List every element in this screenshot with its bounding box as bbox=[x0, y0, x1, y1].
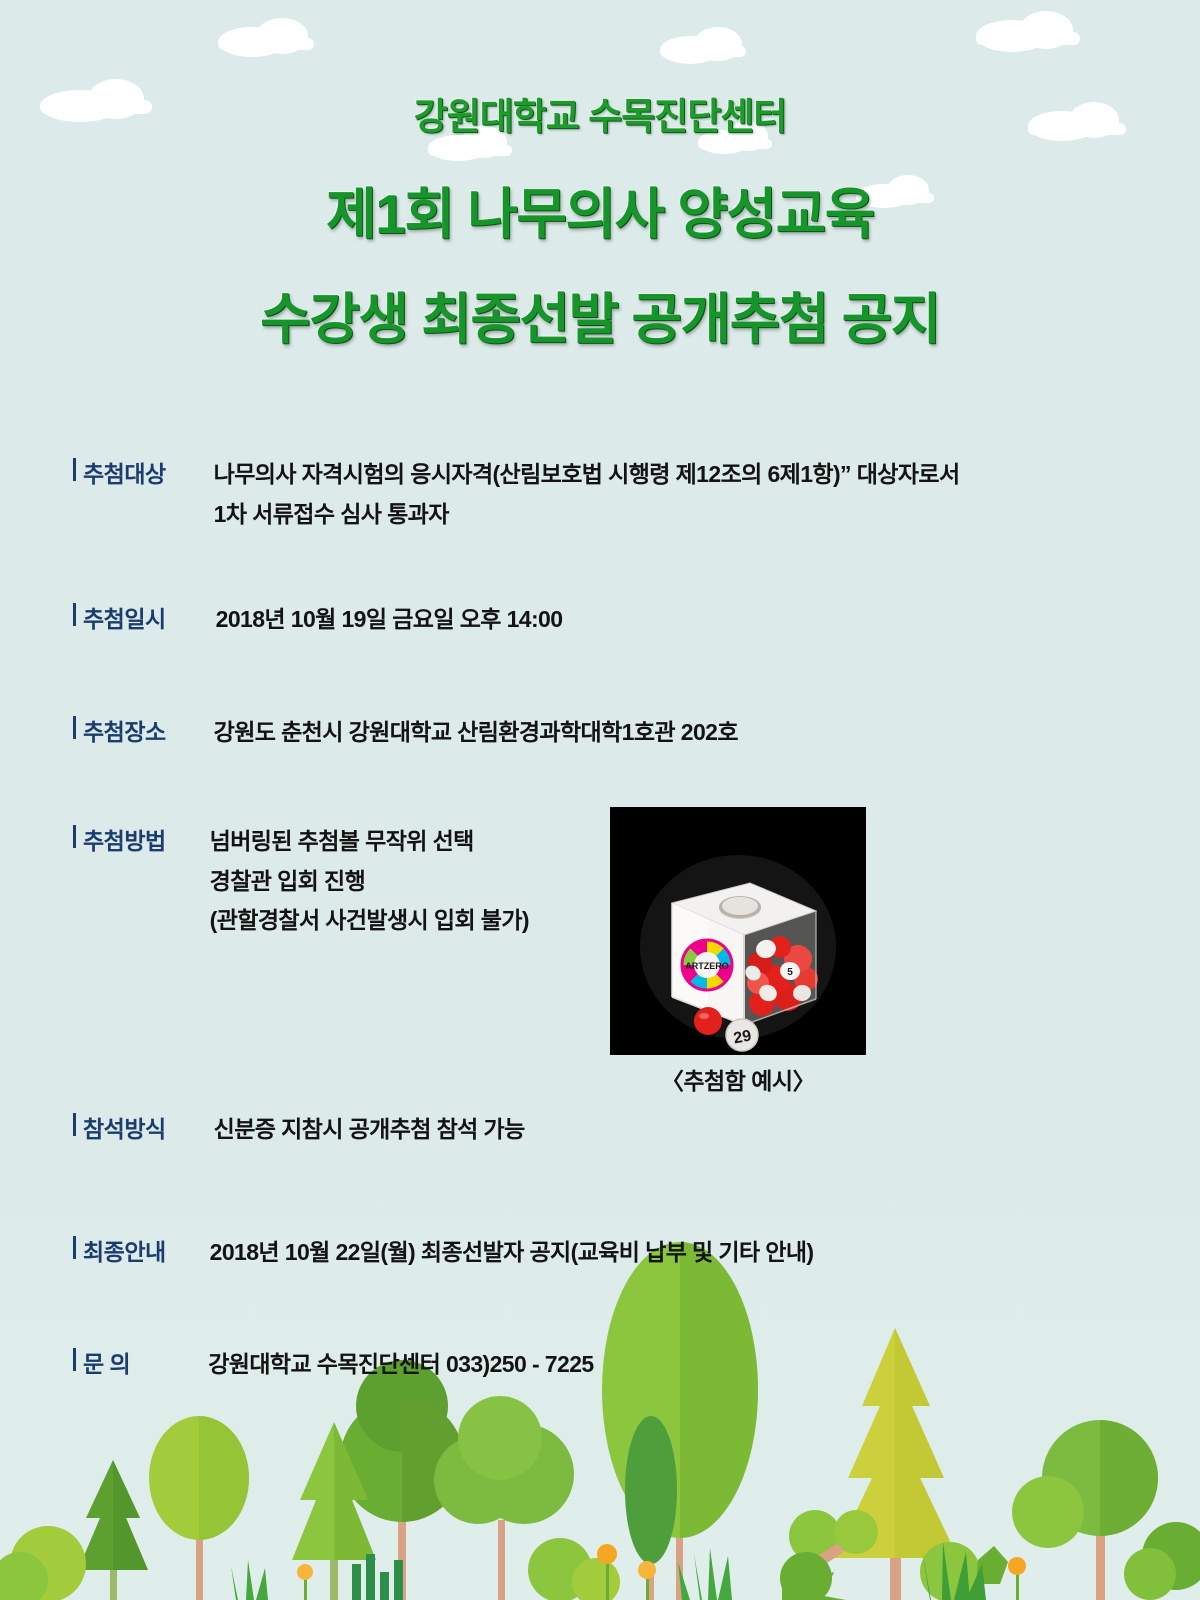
svg-text:29: 29 bbox=[732, 1028, 753, 1048]
bush-starshape bbox=[780, 1552, 846, 1600]
bush-sapling-center bbox=[789, 1510, 878, 1600]
label-bar-icon bbox=[73, 603, 76, 626]
page-title-line1: 제1회 나무의사 양성교육 bbox=[0, 169, 1200, 249]
info-value-attendance: 신분증 지참시 공개추첨 참석 가능 bbox=[214, 1110, 525, 1150]
info-row-target: 추첨대상 나무의사 자격시험의 응시자격(산림보호법 시행령 제12조의 6제1… bbox=[73, 455, 960, 534]
flower-orange bbox=[597, 1544, 617, 1600]
tree-round-medium bbox=[340, 1360, 464, 1600]
info-label-method: 추첨방법 bbox=[73, 822, 166, 856]
label-bar-icon bbox=[73, 716, 76, 739]
info-value-target: 나무의사 자격시험의 응시자격(산림보호법 시행령 제12조의 6제1항)” 대… bbox=[214, 455, 960, 534]
grass-tuft bbox=[231, 1560, 268, 1600]
info-row-contact: 문 의 강원대학교 수목진단센터 033)250 - 7225 bbox=[73, 1345, 594, 1385]
organization-title: 강원대학교 수목진단센터 bbox=[0, 86, 1200, 140]
label-bar-icon bbox=[73, 458, 76, 481]
photo-caption: 〈추첨함 예시〉 bbox=[610, 1062, 866, 1096]
info-label-place: 추첨장소 bbox=[73, 713, 166, 747]
label-bar-icon bbox=[73, 1113, 76, 1136]
label-bar-icon bbox=[73, 1348, 76, 1371]
info-label-attendance: 참석방식 bbox=[73, 1110, 166, 1144]
bush-right-mid bbox=[920, 1542, 1008, 1600]
flower-orange bbox=[638, 1561, 656, 1600]
info-row-datetime: 추첨일시 2018년 10월 19일 금요일 오후 14:00 bbox=[73, 600, 562, 640]
page-title-line2: 수강생 최종선발 공개추첨 공지 bbox=[0, 274, 1200, 354]
lottery-box-photo-wrap: 5 bbox=[610, 807, 866, 1055]
info-label-target: 추첨대상 bbox=[73, 455, 166, 489]
tree-round-right bbox=[1012, 1420, 1158, 1600]
tree-pine-far-left bbox=[78, 1460, 148, 1600]
tree-broccoli bbox=[434, 1396, 574, 1600]
info-value-method: 넘버링된 추첨볼 무작위 선택 경찰관 입회 진행 (관할경찰서 사건발생시 입… bbox=[210, 822, 529, 941]
label-bar-icon bbox=[73, 825, 76, 848]
grass-tuft bbox=[922, 1542, 986, 1600]
tree-pine-left bbox=[292, 1422, 376, 1600]
bush-cluster-center bbox=[528, 1538, 620, 1600]
poster-header: 강원대학교 수목진단센터 제1회 나무의사 양성교육 수강생 최종선발 공개추첨… bbox=[0, 0, 1200, 354]
lottery-box-photo: 5 bbox=[610, 807, 866, 1055]
tree-tall-oval bbox=[602, 1242, 758, 1600]
tree-oval-left bbox=[149, 1416, 249, 1600]
info-row-final-notice: 최종안내 2018년 10월 22일(월) 최종선발자 공지(교육비 납부 및 … bbox=[73, 1233, 814, 1273]
grass-tuft bbox=[678, 1548, 732, 1600]
flower-orange bbox=[297, 1564, 313, 1600]
lottery-ball-29: 29 bbox=[726, 1019, 758, 1051]
tree-cypress bbox=[625, 1416, 677, 1600]
info-row-place: 추첨장소 강원도 춘천시 강원대학교 산림환경과학대학1호관 202호 bbox=[73, 713, 738, 753]
info-value-contact: 강원대학교 수목진단센터 033)250 - 7225 bbox=[208, 1345, 593, 1385]
info-value-datetime: 2018년 10월 19일 금요일 오후 14:00 bbox=[216, 600, 563, 640]
poster-canvas: 강원대학교 수목진단센터 제1회 나무의사 양성교육 수강생 최종선발 공개추첨… bbox=[0, 0, 1200, 1600]
info-label-final-notice: 최종안내 bbox=[73, 1233, 166, 1267]
flower-orange bbox=[1008, 1557, 1026, 1600]
tree-cluster-right-edge bbox=[1124, 1522, 1200, 1600]
artzero-logo-text: ARTZERO bbox=[685, 961, 729, 971]
artzero-logo-icon: ARTZERO bbox=[682, 940, 732, 990]
bush-far-left bbox=[0, 1526, 86, 1600]
label-bar-icon bbox=[73, 1236, 76, 1259]
info-value-place: 강원도 춘천시 강원대학교 산림환경과학대학1호관 202호 bbox=[214, 713, 738, 753]
info-label-datetime: 추첨일시 bbox=[73, 600, 166, 634]
info-row-attendance: 참석방식 신분증 지참시 공개추첨 참석 가능 bbox=[73, 1110, 525, 1150]
grass-blades-left bbox=[352, 1554, 403, 1600]
info-value-final-notice: 2018년 10월 22일(월) 최종선발자 공지(교육비 납부 및 기타 안내… bbox=[210, 1233, 814, 1273]
svg-text:5: 5 bbox=[787, 967, 793, 978]
tree-conifer-yellow bbox=[834, 1328, 958, 1600]
info-label-contact: 문 의 bbox=[73, 1345, 130, 1379]
lottery-ball-loose bbox=[694, 1007, 722, 1035]
info-row-method: 추첨방법 넘버링된 추첨볼 무작위 선택 경찰관 입회 진행 (관할경찰서 사건… bbox=[73, 822, 529, 941]
